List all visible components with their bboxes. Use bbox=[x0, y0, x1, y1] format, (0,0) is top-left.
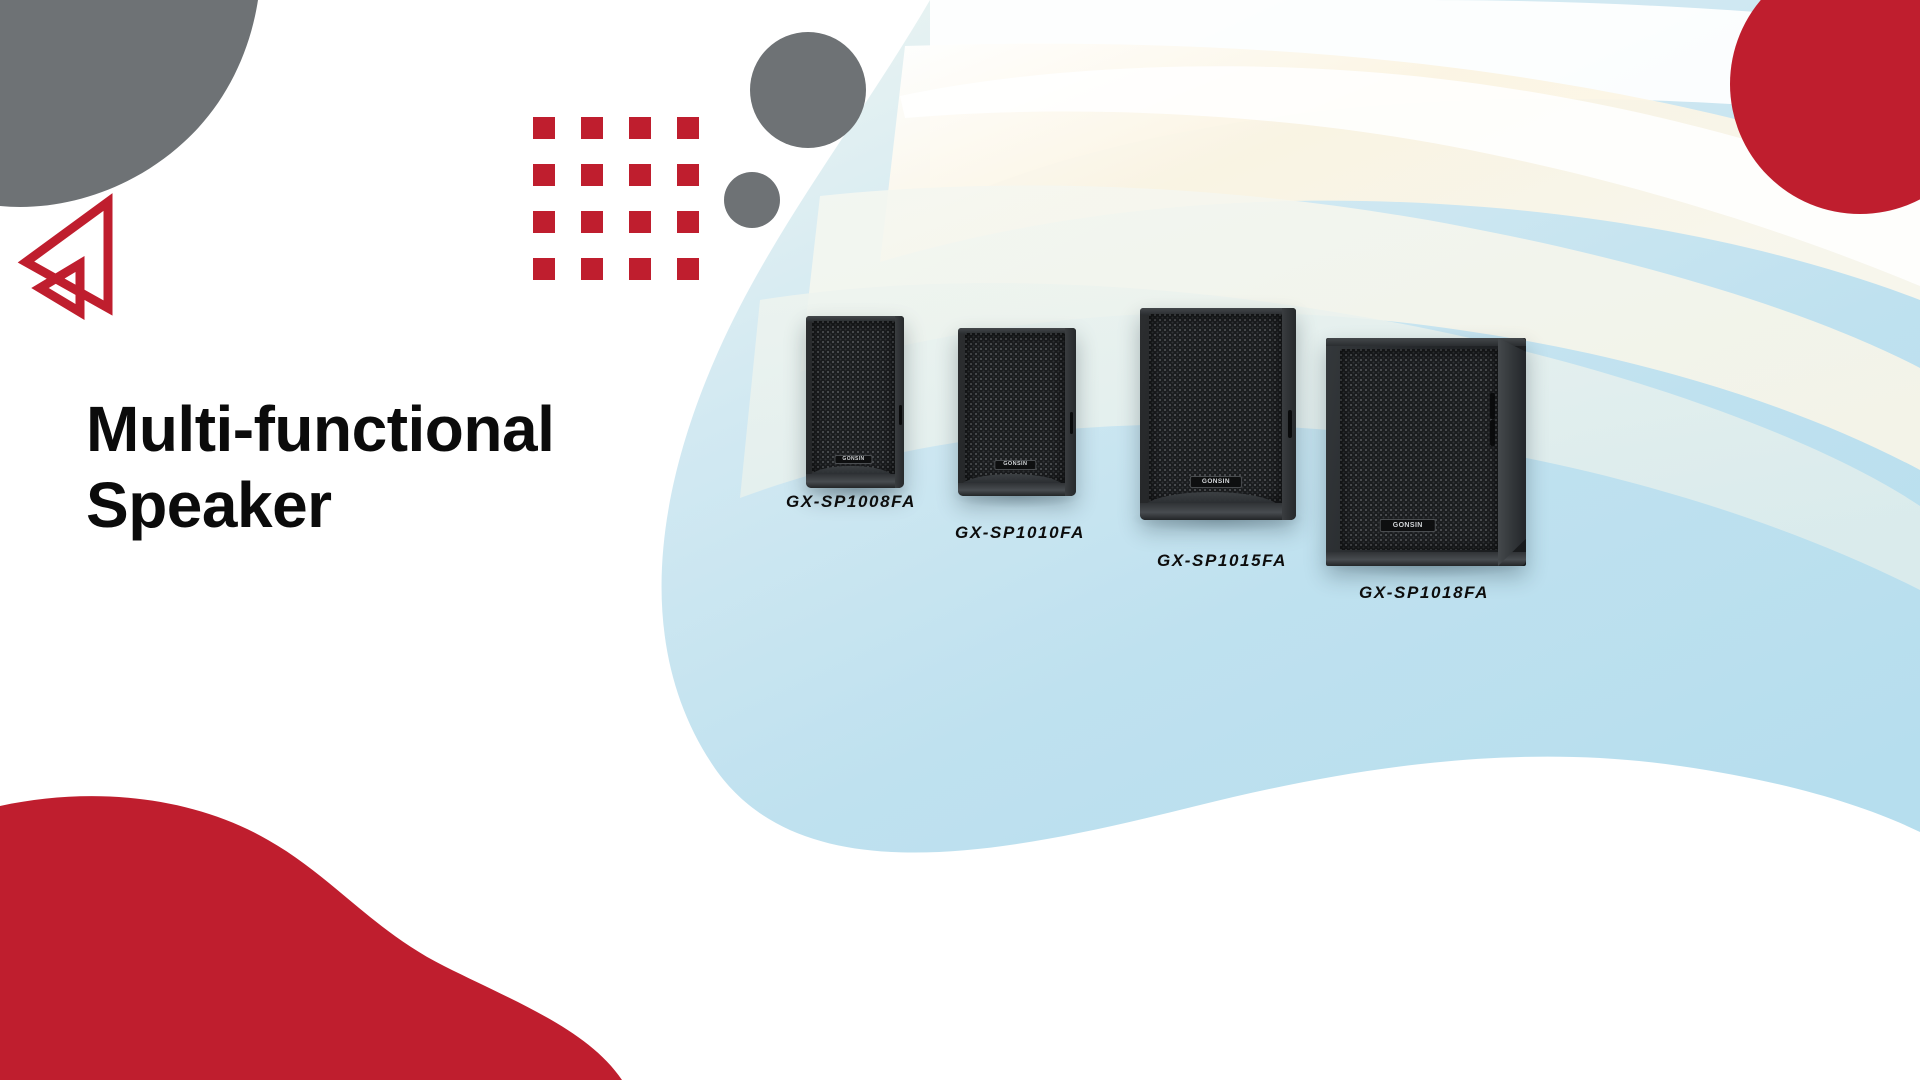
speaker-cabinet: GONSIN bbox=[1326, 338, 1526, 566]
cabinet-front: GONSIN bbox=[1326, 338, 1526, 566]
banner-canvas: Multi-functional Speaker GONSIN GX-SP100… bbox=[0, 0, 1920, 1080]
product-lineup: GONSIN GX-SP1008FA GONSIN G bbox=[0, 0, 1920, 1080]
cabinet-handle-slot bbox=[1490, 420, 1495, 446]
brand-badge: GONSIN bbox=[1380, 519, 1436, 532]
cabinet-handle-slot bbox=[1490, 393, 1495, 419]
cabinet-side-panel bbox=[1498, 338, 1526, 566]
cabinet-top-trim bbox=[1326, 338, 1526, 346]
product-item[interactable]: GONSIN GX-SP1018FA bbox=[0, 0, 1920, 1080]
product-label: GX-SP1018FA bbox=[1359, 583, 1489, 603]
cabinet-bottom-trim bbox=[1326, 552, 1526, 566]
